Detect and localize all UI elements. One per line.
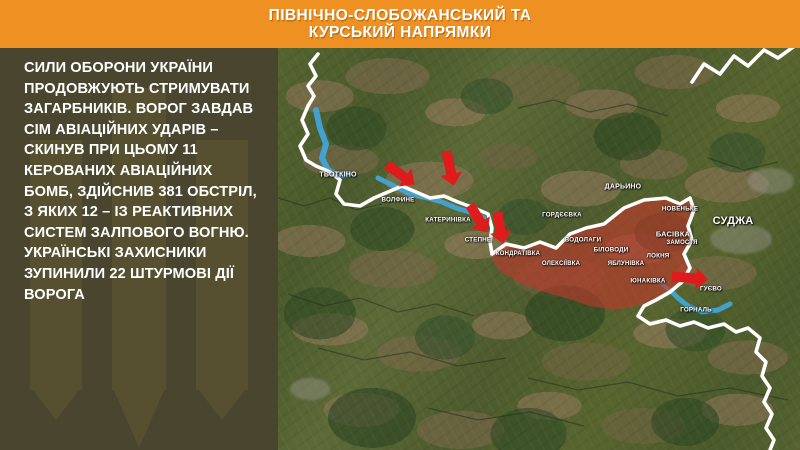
map-label-горналь: ГОРНАЛЬ [680,307,712,314]
map-label-волфине: ВОЛФИНЕ [381,197,414,204]
map-label-яблунівка: ЯБЛУНІВКА [608,261,645,267]
header-title-line-1: ПІВНІЧНО-СЛОБОЖАНСЬКИЙ ТА [269,7,532,25]
map-label-новеньке: НОВЕНЬКЕ [662,206,698,213]
map-label-суджа: СУДЖА [713,215,754,227]
tactical-map[interactable]: ТЬОТКІНОВОЛФИНЕКАТЕРИНІВКАСТЕПНЕКОНДРАТІ… [278,48,800,450]
header-banner: ПІВНІЧНО-СЛОБОЖАНСЬКИЙ ТА КУРСЬКИЙ НАПРЯ… [0,0,800,48]
map-label-гуєво: ГУЄВО [700,286,722,293]
map-label-водолаги: ВОДОЛАГИ [565,237,601,244]
map-label-тьоткіно: ТЬОТКІНО [319,172,356,179]
map-label-гордєєвка: ГОРДЄЄВКА [542,212,582,219]
header-title-line-2: КУРСЬКИЙ НАПРЯМКИ [309,24,492,42]
tryzub-icon-right-tip [196,386,248,420]
summary-text: СИЛИ ОБОРОНИ УКРАЇНИ ПРОДОВЖУЮТЬ СТРИМУВ… [0,48,278,305]
map-vector-overlay [278,48,800,450]
map-label-басівка: БАСІВКА [656,230,690,239]
map-label-дарьино: ДАРЬИНО [605,184,642,191]
map-label-кондратівка: КОНДРАТІВКА [496,251,540,257]
map-label-біловоди: БІЛОВОДИ [594,247,629,254]
tryzub-icon-left-tip [30,386,82,420]
infographic-root: ПІВНІЧНО-СЛОБОЖАНСЬКИЙ ТА КУРСЬКИЙ НАПРЯ… [0,0,800,450]
map-label-замостя: ЗАМОСТЯ [666,240,697,246]
map-label-юнаківка: ЮНАКІВКА [630,278,665,285]
map-label-катеринівка: КАТЕРИНІВКА [425,217,471,224]
summary-panel: СИЛИ ОБОРОНИ УКРАЇНИ ПРОДОВЖУЮТЬ СТРИМУВ… [0,48,278,450]
map-label-олексіївка: ОЛЕКСІЇВКА [542,261,580,267]
tryzub-icon-center-tip [112,386,166,448]
map-label-степне: СТЕПНЕ [465,237,491,244]
map-label-локня: ЛОКНЯ [647,253,670,260]
arrow-katerynivka [436,149,465,188]
